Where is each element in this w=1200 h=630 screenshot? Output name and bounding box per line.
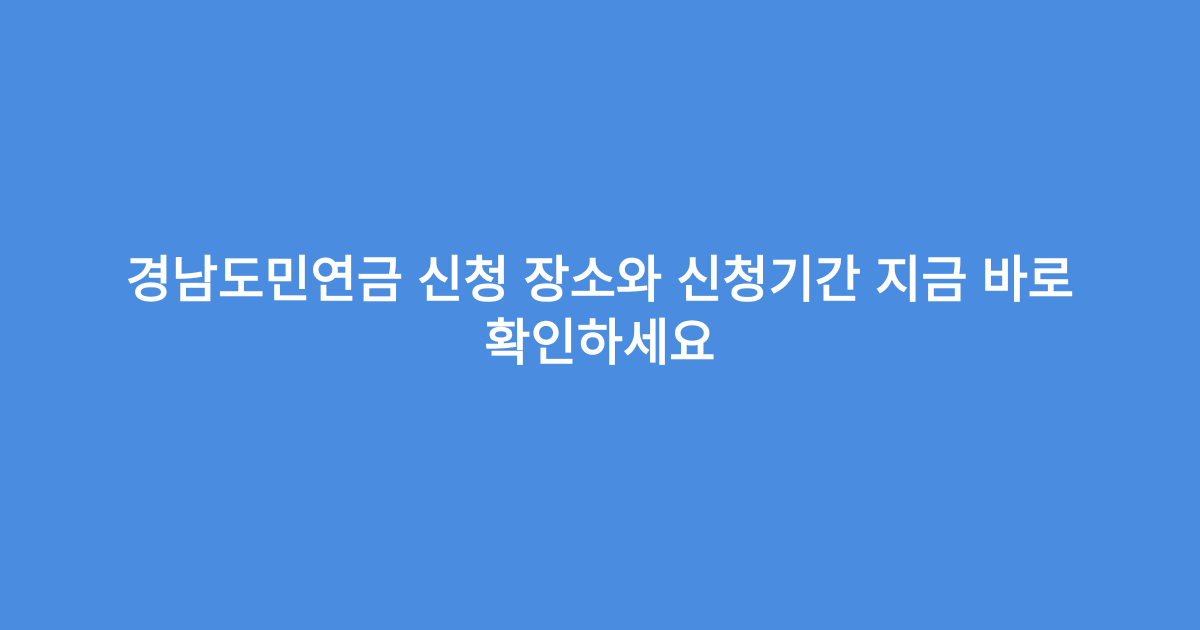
og-card: 경남도민연금 신청 장소와 신청기간 지금 바로 확인하세요 [0, 0, 1200, 630]
page-title: 경남도민연금 신청 장소와 신청기간 지금 바로 확인하세요 [90, 249, 1110, 375]
headline-block: 경남도민연금 신청 장소와 신청기간 지금 바로 확인하세요 [70, 249, 1130, 375]
